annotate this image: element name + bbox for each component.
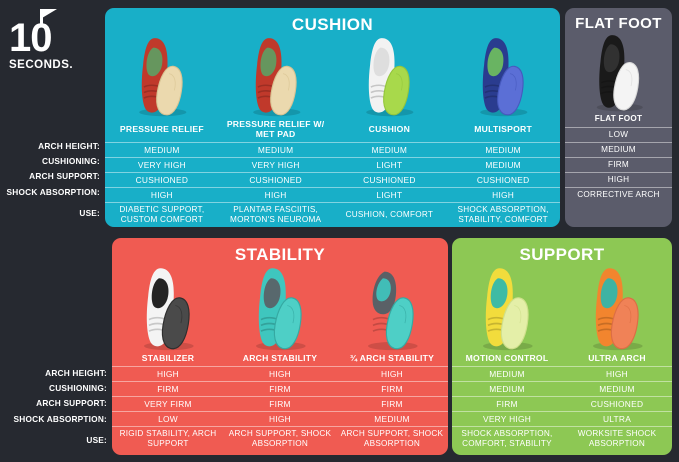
spec-row-cushioning: MEDIUM [565,143,672,158]
spec-cell: FIRM [452,397,562,412]
spec-row-arch-support: CUSHIONEDCUSHIONEDCUSHIONEDCUSHIONED [105,173,560,188]
spec-cell: MEDIUM [446,143,560,158]
row-label-arch-height: ARCH HEIGHT: [0,139,100,154]
spec-row-use: SHOCK ABSORPTION, COMFORT, STABILITYWORK… [452,427,672,452]
spec-table-stability: STABILIZERARCH STABILITY¾ ARCH STABILITY… [112,351,448,451]
row-label-arch-support: ARCH SUPPORT: [0,169,100,184]
row-label-shock-absorption: SHOCK ABSORPTION: [0,185,100,200]
spec-cell: CUSHIONED [105,173,219,188]
spec-table-flat-foot: FLAT FOOTLOWMEDIUMFIRMHIGHCORRECTIVE ARC… [565,112,672,203]
spec-row-arch-height: HIGHHIGHHIGH [112,367,448,382]
spec-row-cushioning: VERY HIGHVERY HIGHLIGHTMEDIUM [105,158,560,173]
insole-image-white-green-insole [333,35,447,117]
spec-cell: LOW [112,412,224,427]
insole-images-stability [112,265,448,351]
spec-row-use: DIABETIC SUPPORT, CUSTOM COMFORTPLANTAR … [105,203,560,228]
spec-table-support: MOTION CONTROLULTRA ARCHMEDIUMHIGHMEDIUM… [452,351,672,451]
spec-cell: MEDIUM [452,367,562,382]
spec-row-use: CORRECTIVE ARCH [565,188,672,203]
spec-cell: HIGH [336,367,448,382]
insole-image-orange-teal-insole [562,265,672,351]
spec-cell: HIGH [565,173,672,188]
row-labels-bottom: ARCH HEIGHT: CUSHIONING: ARCH SUPPORT: S… [0,366,107,447]
column-header: PRESSURE RELIEF W/ MET PAD [219,117,333,143]
column-header: ULTRA ARCH [562,351,672,367]
spec-cell: FIRM [224,397,336,412]
logo-number: 10 [9,18,81,58]
column-header: MOTION CONTROL [452,351,562,367]
spec-cell: FIRM [224,382,336,397]
spec-cell: MEDIUM [105,143,219,158]
panel-title-stability: STABILITY [112,245,448,265]
spec-cell-use: PLANTAR FASCIITIS, MORTON'S NEUROMA [219,203,333,228]
spec-row-arch-height: LOW [565,128,672,143]
panel-support: SUPPORT MOTION CONTROLULTRA ARCHMED [452,238,672,455]
spec-row-shock-absorption: HIGH [565,173,672,188]
spec-cell: HIGH [224,412,336,427]
spec-cell-use: SHOCK ABSORPTION, STABILITY, COMFORT [446,203,560,228]
spec-cell: HIGH [562,367,672,382]
brand-logo: 10 SECONDS. [9,18,81,82]
spec-cell-use: WORKSITE SHOCK ABSORPTION [562,427,672,452]
panel-cushion: CUSHION [105,8,560,227]
column-header: ¾ ARCH STABILITY [336,351,448,367]
row-label-use: USE: [0,200,100,220]
panel-title-flat-foot: FLAT FOOT [565,15,672,32]
spec-row-arch-support: FIRM [565,158,672,173]
spec-cell-use: SHOCK ABSORPTION, COMFORT, STABILITY [452,427,562,452]
spec-cell: MEDIUM [446,158,560,173]
spec-cell: HIGH [224,367,336,382]
column-header: ARCH STABILITY [224,351,336,367]
spec-cell: LIGHT [333,188,447,203]
insole-image-teal-gray-insole [224,265,336,351]
spec-cell: VERY FIRM [112,397,224,412]
spec-cell: HIGH [105,188,219,203]
spec-cell: FIRM [336,382,448,397]
insole-images-cushion [105,35,560,117]
row-label-cushioning: CUSHIONING: [0,154,100,169]
spec-cell: LOW [565,128,672,143]
insole-image-blue-green-insole [446,35,560,117]
spec-row-use: RIGID STABILITY, ARCH SUPPORTARCH SUPPOR… [112,427,448,452]
spec-cell: MEDIUM [565,143,672,158]
column-header: STABILIZER [112,351,224,367]
column-header-row: PRESSURE RELIEFPRESSURE RELIEF W/ MET PA… [105,117,560,143]
column-header-row: STABILIZERARCH STABILITY¾ ARCH STABILITY [112,351,448,367]
panel-title-cushion: CUSHION [105,15,560,35]
row-label-shock-absorption: SHOCK ABSORPTION: [0,412,107,427]
row-labels-top: ARCH HEIGHT: CUSHIONING: ARCH SUPPORT: S… [0,139,100,220]
spec-row-shock-absorption: LOWHIGHMEDIUM [112,412,448,427]
spec-cell-use: DIABETIC SUPPORT, CUSTOM COMFORT [105,203,219,228]
spec-row-arch-height: MEDIUMHIGH [452,367,672,382]
spec-cell: LIGHT [333,158,447,173]
column-header: CUSHION [333,117,447,143]
panel-stability: STABILITY [112,238,448,455]
row-label-use: USE: [0,427,107,447]
spec-cell: CUSHIONED [446,173,560,188]
insole-image-red-green-tan-insole [219,35,333,117]
insole-image-red-green-tan-insole [105,35,219,117]
insole-images-support [452,265,672,351]
spec-cell: FIRM [336,397,448,412]
spec-cell: MEDIUM [562,382,672,397]
spec-cell-use: ARCH SUPPORT, SHOCK ABSORPTION [224,427,336,452]
spec-cell: VERY HIGH [219,158,333,173]
spec-row-shock-absorption: VERY HIGHULTRA [452,412,672,427]
spec-row-arch-height: MEDIUMMEDIUMMEDIUMMEDIUM [105,143,560,158]
column-header-row: MOTION CONTROLULTRA ARCH [452,351,672,367]
column-header: FLAT FOOT [565,112,672,128]
spec-cell: FIRM [565,158,672,173]
panel-flat-foot: FLAT FOOT FLAT FOOTLOWMEDIUMFIRMHIGHCORR… [565,8,672,227]
spec-cell: HIGH [112,367,224,382]
row-label-arch-support: ARCH SUPPORT: [0,396,107,411]
insole-image-white-black-insole [112,265,224,351]
spec-cell: CUSHIONED [562,397,672,412]
spec-cell: ULTRA [562,412,672,427]
spec-cell: MEDIUM [336,412,448,427]
spec-row-arch-support: VERY FIRMFIRMFIRM [112,397,448,412]
spec-cell: MEDIUM [219,143,333,158]
column-header-row: FLAT FOOT [565,112,672,128]
column-header: PRESSURE RELIEF [105,117,219,143]
spec-row-arch-support: FIRMCUSHIONED [452,397,672,412]
row-label-cushioning: CUSHIONING: [0,381,107,396]
spec-cell: MEDIUM [452,382,562,397]
spec-cell-use: RIGID STABILITY, ARCH SUPPORT [112,427,224,452]
spec-cell: CUSHIONED [219,173,333,188]
spec-cell: CUSHIONED [333,173,447,188]
spec-cell-use: ARCH SUPPORT, SHOCK ABSORPTION [336,427,448,452]
spec-cell: VERY HIGH [105,158,219,173]
row-label-arch-height: ARCH HEIGHT: [0,366,107,381]
spec-row-shock-absorption: HIGHHIGHLIGHTHIGH [105,188,560,203]
spec-cell: MEDIUM [333,143,447,158]
insole-image-black-white-insole [565,32,672,112]
insole-images-flat-foot [565,32,672,112]
insole-image-yellow-teal-insole [452,265,562,351]
spec-table-cushion: PRESSURE RELIEFPRESSURE RELIEF W/ MET PA… [105,117,560,227]
spec-cell: VERY HIGH [452,412,562,427]
spec-cell-use: CORRECTIVE ARCH [565,188,672,203]
logo-word: SECONDS. [9,59,81,71]
spec-row-cushioning: MEDIUMMEDIUM [452,382,672,397]
column-header: MULTISPORT [446,117,560,143]
panel-title-support: SUPPORT [452,245,672,265]
spec-cell: FIRM [112,382,224,397]
spec-cell-use: CUSHION, COMFORT [333,203,447,228]
spec-cell: HIGH [446,188,560,203]
insole-image-teal-gray-short-insole [336,265,448,351]
spec-cell: HIGH [219,188,333,203]
spec-row-cushioning: FIRMFIRMFIRM [112,382,448,397]
